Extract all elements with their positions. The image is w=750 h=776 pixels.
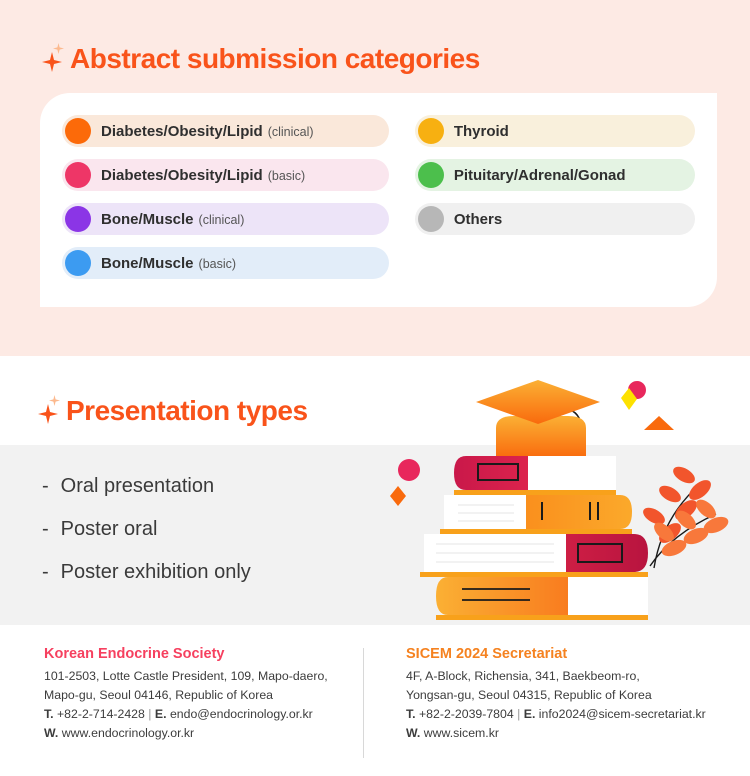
list-item: - Poster oral (42, 518, 251, 541)
footer-column-kes: Korean Endocrine Society 101-2503, Lotte… (0, 646, 363, 743)
footer-address-line1: 101-2503, Lotte Castle President, 109, M… (44, 667, 363, 686)
footer-address-line2: Mapo-gu, Seoul 04146, Republic of Korea (44, 686, 363, 705)
email-value[interactable]: endo@endocrinology.or.kr (170, 707, 313, 721)
category-pill[interactable]: Pituitary/Adrenal/Gonad (415, 159, 695, 191)
category-label: Thyroid (454, 123, 509, 140)
separator: | (517, 707, 520, 721)
sparkle-icon (36, 394, 62, 428)
category-color-dot (65, 250, 91, 276)
categories-card: Diabetes/Obesity/Lipid (clinical) Diabet… (40, 93, 717, 307)
decor-circle-pink (398, 459, 420, 481)
footer-web-line: W. www.endocrinology.or.kr (44, 724, 363, 743)
bullet-dash: - (42, 561, 49, 584)
list-item: - Poster exhibition only (42, 561, 251, 584)
footer-org-name: Korean Endocrine Society (44, 646, 363, 662)
list-item: - Oral presentation (42, 475, 251, 498)
bullet-dash: - (42, 475, 49, 498)
category-color-dot (65, 118, 91, 144)
presentation-section-heading: Presentation types (36, 394, 308, 428)
tel-label: T. (44, 707, 54, 721)
footer-contact-line: T. +82-2-2039-7804 | E. info2024@sicem-s… (406, 705, 750, 724)
decor-triangle-orange (644, 416, 674, 430)
web-label: W. (406, 726, 420, 740)
category-pill[interactable]: Bone/Muscle (clinical) (62, 203, 389, 235)
category-color-dot (418, 118, 444, 144)
abstract-section-heading: Abstract submission categories (40, 42, 480, 76)
category-pill[interactable]: Bone/Muscle (basic) (62, 247, 389, 279)
category-color-dot (418, 162, 444, 188)
categories-column-left: Diabetes/Obesity/Lipid (clinical) Diabet… (62, 115, 389, 279)
category-suffix: (basic) (199, 257, 237, 271)
category-pill[interactable]: Thyroid (415, 115, 695, 147)
categories-columns: Diabetes/Obesity/Lipid (clinical) Diabet… (40, 93, 717, 279)
category-color-dot (418, 206, 444, 232)
category-label: Bone/Muscle (101, 255, 194, 272)
footer-address-line1: 4F, A-Block, Richensia, 341, Baekbeom-ro… (406, 667, 750, 686)
category-color-dot (65, 206, 91, 232)
categories-column-right: Thyroid Pituitary/Adrenal/Gonad Others (415, 115, 695, 279)
tel-value: +82-2-714-2428 (57, 707, 145, 721)
bullet-dash: - (42, 518, 49, 541)
poster-page: Abstract submission categories Diabetes/… (0, 0, 750, 776)
category-suffix: (clinical) (199, 213, 245, 227)
web-value[interactable]: www.sicem.kr (424, 726, 499, 740)
footer-web-line: W. www.sicem.kr (406, 724, 750, 743)
category-label: Pituitary/Adrenal/Gonad (454, 167, 626, 184)
presentation-type-label: Poster exhibition only (61, 561, 251, 584)
web-value[interactable]: www.endocrinology.or.kr (62, 726, 194, 740)
category-label: Others (454, 211, 502, 228)
books-graduation-illustration (378, 368, 750, 626)
presentation-type-label: Poster oral (61, 518, 158, 541)
category-label: Diabetes/Obesity/Lipid (101, 167, 263, 184)
presentation-type-label: Oral presentation (61, 475, 214, 498)
decor-diamond-orange (390, 486, 406, 506)
category-suffix: (basic) (268, 169, 306, 183)
category-suffix: (clinical) (268, 125, 314, 139)
footer-column-secretariat: SICEM 2024 Secretariat 4F, A-Block, Rich… (363, 646, 750, 743)
tel-label: T. (406, 707, 416, 721)
tel-value: +82-2-2039-7804 (419, 707, 514, 721)
category-label: Bone/Muscle (101, 211, 194, 228)
email-label: E. (155, 707, 167, 721)
email-label: E. (524, 707, 536, 721)
category-color-dot (65, 162, 91, 188)
presentation-type-list: - Oral presentation - Poster oral - Post… (42, 475, 251, 584)
category-pill[interactable]: Diabetes/Obesity/Lipid (basic) (62, 159, 389, 191)
footer: Korean Endocrine Society 101-2503, Lotte… (0, 646, 750, 743)
email-value[interactable]: info2024@sicem-secretariat.kr (539, 707, 706, 721)
category-pill[interactable]: Diabetes/Obesity/Lipid (clinical) (62, 115, 389, 147)
footer-contact-line: T. +82-2-714-2428 | E. endo@endocrinolog… (44, 705, 363, 724)
web-label: W. (44, 726, 58, 740)
category-label: Diabetes/Obesity/Lipid (101, 123, 263, 140)
separator: | (148, 707, 151, 721)
category-pill[interactable]: Others (415, 203, 695, 235)
sparkle-icon (40, 42, 66, 76)
presentation-title: Presentation types (66, 395, 308, 427)
footer-address-line2: Yongsan-gu, Seoul 04315, Republic of Kor… (406, 686, 750, 705)
footer-org-name: SICEM 2024 Secretariat (406, 646, 750, 662)
abstract-title: Abstract submission categories (70, 43, 480, 75)
